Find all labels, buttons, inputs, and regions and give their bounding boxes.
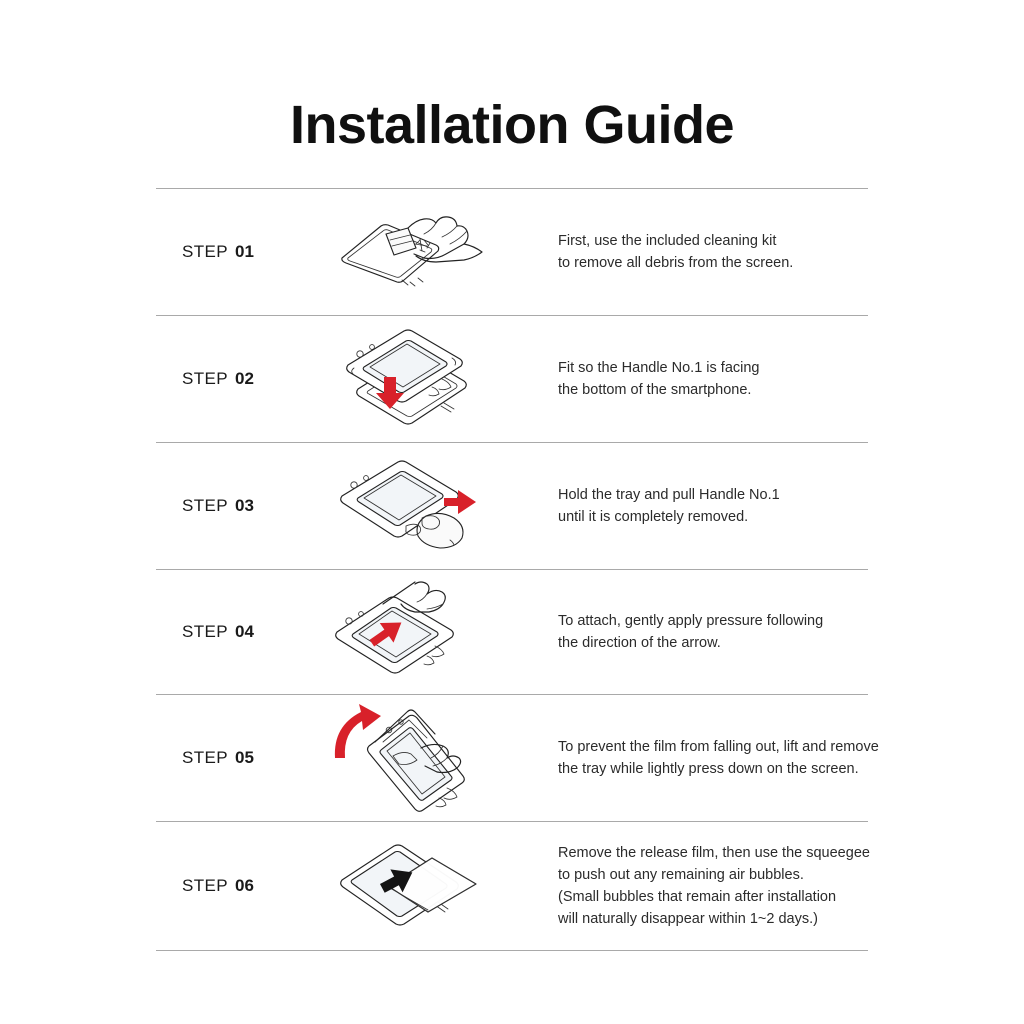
step-label-01: STEP01	[156, 242, 304, 262]
step-word-01: STEP	[182, 242, 228, 261]
step-word-02: STEP	[182, 369, 228, 388]
step-text-line: to remove all debris from the screen.	[558, 252, 868, 274]
step-text-04: To attach, gently apply pressure followi…	[514, 610, 868, 654]
step-label-04: STEP04	[156, 622, 304, 642]
step-label-03: STEP03	[156, 496, 304, 516]
step-text-01: First, use the included cleaning kit to …	[514, 230, 868, 274]
step-illustration-05	[304, 702, 514, 814]
step-text-line: Hold the tray and pull Handle No.1	[558, 484, 868, 506]
step-number-06: 06	[235, 876, 254, 895]
step-text-line: the bottom of the smartphone.	[558, 379, 868, 401]
tray-over-phone-icon	[324, 327, 494, 431]
step-label-02: STEP02	[156, 369, 304, 389]
step-text-line: To attach, gently apply pressure followi…	[558, 610, 868, 632]
step-text-line: Remove the release film, then use the sq…	[558, 842, 870, 864]
step-row-03: STEP03	[156, 443, 868, 569]
step-word-05: STEP	[182, 748, 228, 767]
step-label-05: STEP05	[156, 748, 304, 768]
step-number-05: 05	[235, 748, 254, 767]
step-row-06: STEP06 Remove the relea	[156, 822, 868, 950]
step-row-01: STEP01 First, use the included clean	[156, 189, 868, 315]
step-text-line: To prevent the film from falling out, li…	[558, 736, 879, 758]
step-illustration-01	[304, 204, 514, 300]
step-text-line: will naturally disappear within 1~2 days…	[558, 908, 870, 930]
step-illustration-02	[304, 327, 514, 431]
lift-tray-icon	[323, 702, 495, 814]
step-number-01: 01	[235, 242, 254, 261]
step-text-line: the tray while lightly press down on the…	[558, 758, 879, 780]
press-film-icon	[323, 580, 495, 684]
steps-list: STEP01 First, use the included clean	[156, 188, 868, 951]
step-illustration-06	[304, 836, 514, 936]
step-word-03: STEP	[182, 496, 228, 515]
step-label-06: STEP06	[156, 876, 304, 896]
step-row-02: STEP02	[156, 316, 868, 442]
step-text-05: To prevent the film from falling out, li…	[514, 736, 879, 780]
step-text-02: Fit so the Handle No.1 is facing the bot…	[514, 357, 868, 401]
step-word-04: STEP	[182, 622, 228, 641]
divider-bottom	[156, 950, 868, 951]
pull-handle-tab-icon	[322, 454, 497, 558]
step-text-line: the direction of the arrow.	[558, 632, 868, 654]
step-text-line: Fit so the Handle No.1 is facing	[558, 357, 868, 379]
step-number-02: 02	[235, 369, 254, 388]
step-text-line: to push out any remaining air bubbles.	[558, 864, 870, 886]
step-row-05: STEP05	[156, 695, 868, 821]
peel-release-film-icon	[324, 836, 494, 936]
step-text-line: until it is completely removed.	[558, 506, 868, 528]
installation-guide-page: Installation Guide STEP01	[0, 0, 1024, 1024]
page-title: Installation Guide	[0, 96, 1024, 155]
step-text-line: First, use the included cleaning kit	[558, 230, 868, 252]
step-text-03: Hold the tray and pull Handle No.1 until…	[514, 484, 868, 528]
hand-wiping-phone-icon	[324, 204, 494, 300]
step-text-06: Remove the release film, then use the sq…	[514, 842, 870, 930]
step-number-04: 04	[235, 622, 254, 641]
step-text-line: (Small bubbles that remain after install…	[558, 886, 870, 908]
step-word-06: STEP	[182, 876, 228, 895]
step-illustration-04	[304, 580, 514, 684]
step-illustration-03	[304, 454, 514, 558]
step-row-04: STEP04	[156, 570, 868, 694]
step-number-03: 03	[235, 496, 254, 515]
